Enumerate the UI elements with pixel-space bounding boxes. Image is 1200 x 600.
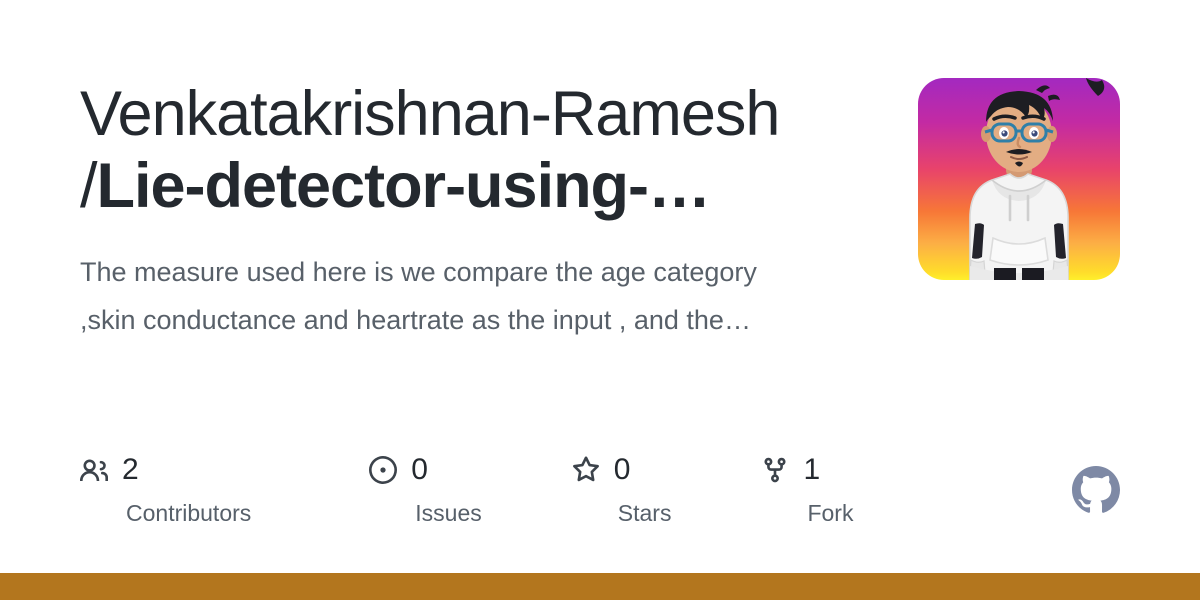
stat-stars-top: 0 bbox=[572, 452, 672, 488]
star-icon bbox=[572, 456, 600, 484]
repo-info: Venkatakrishnan-Ramesh /Lie-detector-usi… bbox=[80, 78, 870, 344]
stat-fork: 1 Fork bbox=[761, 452, 853, 526]
issue-opened-icon bbox=[369, 456, 397, 484]
language-color-bar bbox=[0, 573, 1200, 600]
stat-issues-label: Issues bbox=[415, 500, 481, 526]
stat-stars: 0 Stars bbox=[572, 452, 672, 526]
repo-description: The measure used here is we compare the … bbox=[80, 248, 810, 344]
people-icon bbox=[80, 456, 108, 484]
stat-contributors-value: 2 bbox=[122, 455, 139, 485]
stat-stars-label: Stars bbox=[618, 500, 672, 526]
repo-forked-icon bbox=[761, 456, 789, 484]
stat-stars-value: 0 bbox=[614, 455, 631, 485]
repo-name: Lie-detector-using-… bbox=[97, 151, 711, 221]
stat-contributors-label: Contributors bbox=[126, 500, 251, 526]
github-mark-icon bbox=[1072, 466, 1120, 514]
stat-fork-label: Fork bbox=[807, 500, 853, 526]
stat-contributors: 2 Contributors bbox=[80, 452, 251, 526]
stat-contributors-top: 2 bbox=[80, 452, 251, 488]
stat-issues: 0 Issues bbox=[369, 452, 481, 526]
repo-owner: Venkatakrishnan-Ramesh bbox=[80, 79, 779, 149]
github-repo-social-card: Venkatakrishnan-Ramesh /Lie-detector-usi… bbox=[0, 0, 1200, 600]
stat-fork-value: 1 bbox=[803, 455, 820, 485]
stat-issues-value: 0 bbox=[411, 455, 428, 485]
repo-separator: / bbox=[80, 151, 97, 221]
stat-issues-top: 0 bbox=[369, 452, 481, 488]
repo-stats: 2 Contributors 0 Issues bbox=[80, 452, 853, 526]
page-title: Venkatakrishnan-Ramesh /Lie-detector-usi… bbox=[80, 78, 870, 222]
stat-fork-top: 1 bbox=[761, 452, 853, 488]
avatar bbox=[918, 78, 1120, 280]
